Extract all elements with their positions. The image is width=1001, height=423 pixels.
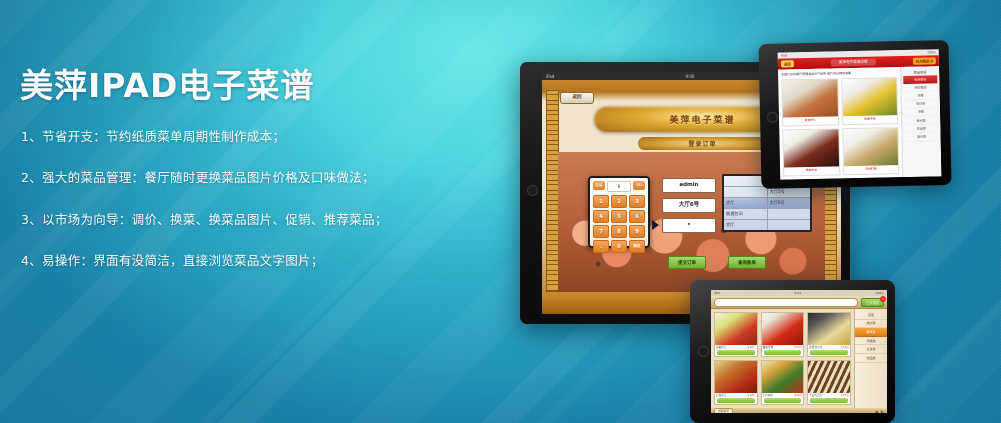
cart-button[interactable]: 已点菜品 3 [861,298,884,307]
current-table-tag: 当前桌号 [714,408,733,413]
list-item: 4、易操作：界面有没简洁，直接浏览菜品文字图片； [21,255,458,268]
add-dish-button[interactable] [717,398,755,403]
dish-card[interactable]: 凉拌时蔬 [842,127,899,175]
status-carrier: iPad [781,53,787,57]
pointer-arrow-icon [652,220,659,230]
dish-card[interactable]: 青椒虾仁 ￥26元 [714,312,758,357]
category-sidebar: 菜品类型 推荐菜品 特价菜品 凉菜 热炒类 汤类 面点类 饮品类 酒水类 [900,66,941,177]
keypad-key[interactable]: 4 [593,210,609,223]
cart-badge: 3 [880,296,886,302]
backspace-icon[interactable]: ⌫ [633,181,645,190]
numeric-keypad[interactable]: 数量 6 ⌫ 1 2 3 4 5 6 7 8 9 . [588,176,650,248]
app-body: 本图片仅供餐厅管理者展示产品用 图片均从网络收集 香辣虾仁 彩椒牛柳 黑椒 [778,66,941,179]
dish-meta: 宫保鸡丁 ￥28元 [715,393,757,398]
dish-name: 奶黄流沙包 [809,345,822,349]
cell-table [768,220,811,230]
keypad-label: 数量 [593,181,605,190]
app-subtitle: 登录订单 [688,139,716,148]
category-sidebar: 凉菜 热炒类 推荐菜 汤煲类 主食类 饮品类 [854,309,887,408]
table-row[interactable]: 大厅 大厅6号 [724,198,810,209]
list-item: 3、以市场为向导：调价、换菜、换菜品图片、促销、推荐菜品； [21,214,458,227]
status-battery: 100% [875,291,884,295]
dish-image [843,128,898,166]
list-item: 1、节省开支：节约纸质菜单周期性制作成本； [21,131,458,144]
user-field[interactable]: admin [662,178,716,193]
dish-name: 糖醋里脊 [763,345,773,349]
sidebar-item-soup[interactable]: 汤煲类 [855,337,887,346]
app-toolbar: 已点菜品 3 [711,296,887,309]
sidebar-item-recommended[interactable]: 推荐菜 [855,328,887,337]
app-title: 美萍电子菜谱点菜 [831,59,876,67]
sidebar-item-cold[interactable]: 凉菜 [855,311,887,320]
dish-image [808,361,850,393]
ipad-bottom-right-screen: iPad 9:41 100% 已点菜品 3 青椒虾仁 ￥26元 [711,290,887,413]
back-button[interactable]: 返回 [560,92,594,104]
page-title: 美萍IPAD电子菜谱 [20,68,458,105]
dish-meta: 奶黄流沙包 ￥18元 [808,345,850,350]
dish-grid: 香辣虾仁 彩椒牛柳 黑椒牛排 凉拌时蔬 [781,77,899,177]
table-row[interactable]: 大厅 [724,220,810,230]
add-dish-button[interactable] [810,398,848,403]
app-subtitle-banner: 登录订单 [638,137,767,150]
cart-button[interactable]: 已点菜品 0 [913,57,936,64]
dish-image [715,313,757,345]
dish-image [842,78,897,116]
home-button-icon[interactable] [767,112,778,123]
keypad-key[interactable]: 7 [593,225,609,238]
dish-image [808,313,850,345]
status-clock: 9:06 [685,74,694,79]
app-footer: 当前桌号 ◀ ▶ [711,408,887,413]
login-fields: admin 大厅6号 • [662,178,716,238]
app-body: 青椒虾仁 ￥26元 糖醋里脊 ￥32元 [711,309,887,408]
sidebar-item-alcohol[interactable]: 酒水类 [904,133,938,142]
dish-grid-panel: 本图片仅供餐厅管理者展示产品用 图片均从网络收集 香辣虾仁 彩椒牛柳 黑椒 [778,67,902,180]
dish-card[interactable]: 宫保鸡丁 ￥28元 [714,360,758,405]
dish-caption: 黑椒牛排 [784,166,839,175]
dish-image [782,79,837,117]
dish-meta: 千层巧克力 ￥22元 [808,393,850,398]
dish-name: 青椒虾仁 [716,345,726,349]
cell-table [768,209,811,219]
pagination: ◀ ▶ [875,409,884,414]
cell-area: 大厅 [724,198,768,208]
dish-name: 千层巧克力 [809,393,822,397]
cell-area: 大厅 [724,220,768,230]
dish-image [783,129,838,167]
dish-image [715,361,757,393]
status-carrier: iPad [546,74,554,79]
keypad-display[interactable]: 6 [607,181,631,192]
home-button-icon[interactable] [698,346,709,357]
keypad-key[interactable]: 9 [629,225,645,238]
dish-price: ￥22元 [841,393,850,397]
dish-price: ￥18元 [841,345,850,349]
status-carrier: iPad [714,291,720,295]
dish-price: ￥30元 [794,393,803,397]
keypad-key[interactable]: 8 [611,225,627,238]
sidebar-item-drinks[interactable]: 饮品类 [855,354,887,363]
table-row[interactable]: 普通包间 [724,209,810,220]
keypad-top-row: 数量 6 ⌫ [593,181,645,192]
marketing-copy: 美萍IPAD电子菜谱 1、节省开支：节约纸质菜单周期性制作成本； 2、强大的菜品… [18,68,458,297]
dish-price: ￥28元 [747,393,756,397]
keypad-key[interactable]: 3 [629,195,645,208]
cart-label: 已点菜品 [866,301,879,305]
keypad-key[interactable]: 2 [611,195,627,208]
keypad-key[interactable]: 6 [629,210,645,223]
action-buttons: 提交订单 查询账单 [668,256,766,269]
query-bill-button[interactable]: 查询账单 [728,256,766,269]
dish-grid: 青椒虾仁 ￥26元 糖醋里脊 ￥32元 [711,309,854,408]
keypad-key[interactable]: 1 [593,195,609,208]
status-battery: 100% [927,50,936,54]
dish-card[interactable]: 奶黄流沙包 ￥18元 [807,312,851,357]
dish-name: 宫保鸡丁 [716,393,726,397]
dish-card[interactable]: 小炒肉片 ￥30元 [761,360,805,405]
password-field[interactable]: • [662,218,716,233]
dish-card[interactable]: 彩椒牛柳 [841,77,898,125]
add-dish-button[interactable] [810,350,848,355]
ipad-top-right-screen: iPad 100% 返回 美萍电子菜谱点菜 已点菜品 0 本图片仅供餐厅管理者展… [778,49,942,179]
dish-price: ￥26元 [747,345,756,349]
add-dish-button[interactable] [717,350,755,355]
dish-card[interactable]: 香辣虾仁 [781,78,838,126]
status-clock: 9:41 [794,291,801,295]
keypad-confirm-key[interactable]: 确定 [629,240,645,253]
cell-table: 大厅6号 [768,198,811,208]
add-dish-button[interactable] [764,350,802,355]
keypad-key[interactable]: 0 [611,240,627,253]
dish-meta: 青椒虾仁 ￥26元 [715,345,757,350]
prev-page-icon[interactable]: ◀ [875,409,878,414]
dish-meta: 小炒肉片 ￥30元 [762,393,804,398]
dish-caption: 香辣虾仁 [783,116,838,125]
dish-caption: 凉拌时蔬 [844,165,899,174]
ipad-device-top-right: iPad 100% 返回 美萍电子菜谱点菜 已点菜品 0 本图片仅供餐厅管理者展… [759,40,952,189]
dish-price: ￥32元 [794,345,803,349]
dish-card[interactable]: 黑椒牛排 [782,128,839,176]
keypad-key[interactable]: . [593,240,609,253]
cell-area [724,187,768,197]
search-input[interactable] [714,298,858,307]
dish-caption: 彩椒牛柳 [843,115,898,124]
app-title: 美萍电子菜谱 [669,113,735,126]
promo-banner: 美萍IPAD电子菜谱 1、节省开支：节约纸质菜单周期性制作成本； 2、强大的菜品… [0,0,1001,423]
dish-image [762,313,804,345]
keypad-key[interactable]: 5 [611,210,627,223]
home-button-icon[interactable] [527,185,538,196]
dish-name: 小炒肉片 [763,393,773,397]
dish-image [762,361,804,393]
sidebar-item-stirfry[interactable]: 热炒类 [855,320,887,329]
next-page-icon[interactable]: ▶ [881,409,884,414]
sidebar-item-staple[interactable]: 主食类 [855,345,887,354]
dish-card[interactable]: 糖醋里脊 ￥32元 [761,312,805,357]
cell-area: 普通包间 [724,209,768,219]
dish-card[interactable]: 千层巧克力 ￥22元 [807,360,851,405]
feature-list: 1、节省开支：节约纸质菜单周期性制作成本； 2、强大的菜品管理：餐厅随时更换菜品… [18,131,458,268]
back-button[interactable]: 返回 [781,60,794,67]
table-field[interactable]: 大厅6号 [662,198,716,213]
dish-meta: 糖醋里脊 ￥32元 [762,345,804,350]
keypad-grid: 1 2 3 4 5 6 7 8 9 . 0 确定 [593,195,645,253]
submit-order-button[interactable]: 提交订单 [668,256,706,269]
ipad-device-bottom-right: iPad 9:41 100% 已点菜品 3 青椒虾仁 ￥26元 [690,280,895,423]
add-dish-button[interactable] [764,398,802,403]
list-item: 2、强大的菜品管理：餐厅随时更换菜品图片价格及口味做法； [21,172,458,185]
